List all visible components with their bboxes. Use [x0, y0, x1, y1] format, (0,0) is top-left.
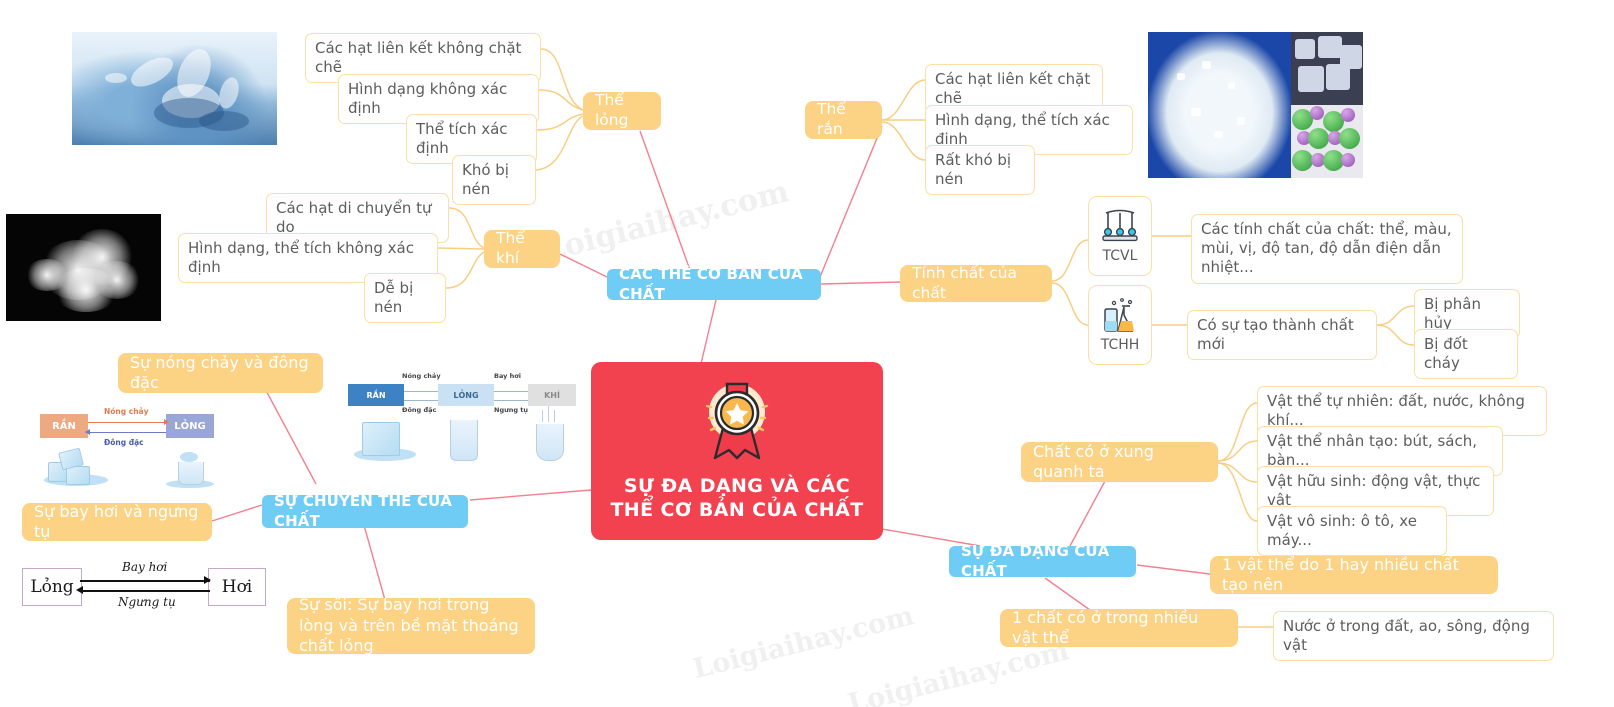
- section-diversity[interactable]: SỰ ĐA DẠNG CỦA CHẤT: [949, 546, 1136, 577]
- boiling-node[interactable]: Sự sôi: Sự bay hơi trong lòng và trên bề…: [287, 598, 535, 654]
- diagram-box-solid: RẮN: [40, 414, 88, 438]
- diagram-box-liquid: LỎNG: [166, 414, 214, 438]
- liquid-trait-4: Khó bị nén: [452, 155, 536, 205]
- section-basic-states[interactable]: CÁC THỂ CƠ BẢN CỦA CHẤT: [607, 269, 821, 300]
- diagram-label-melting: Nóng chảy: [104, 407, 148, 416]
- mindmap-canvas: Loigiaihay.com Loigiaihay.com Loigiaihay…: [0, 0, 1614, 707]
- salt-crystals-photo: [1148, 32, 1363, 178]
- gas-trait-3: Dễ bị nén: [364, 273, 446, 323]
- diagram-box-liquid2: Lỏng: [22, 568, 82, 606]
- three-state-box-liquid: LỎNG: [438, 384, 494, 406]
- watermark: Loigiaihay.com: [690, 600, 917, 685]
- section-state-change[interactable]: SỰ CHUYỂN THỂ CỦA CHẤT: [262, 495, 468, 528]
- three-state-diagram: RẮN LỎNG KHÍ Nóng chảy Bay hơi Đông đặc …: [340, 362, 580, 462]
- central-title-line1: SỰ ĐA DẠNG VÀ CÁC: [624, 474, 850, 498]
- diagram-label-condensation: Ngưng tụ: [118, 595, 176, 609]
- tchh-card[interactable]: TCHH: [1088, 285, 1152, 365]
- liquid-vapor-diagram: Lỏng Hơi Bay hơi Ngưng tụ: [18, 558, 274, 620]
- solid-trait-3: Rất khó bị nén: [925, 145, 1035, 195]
- around-us-node[interactable]: Chất có ở xung quanh ta: [1021, 442, 1218, 482]
- tcvl-label: TCVL: [1103, 248, 1138, 266]
- three-state-box-gas: KHÍ: [528, 384, 576, 406]
- diagram-box-vapor: Hơi: [208, 568, 266, 606]
- one-object-node[interactable]: 1 vật thể do 1 hay nhiều chất tạo nên: [1210, 556, 1498, 594]
- evaporation-condensation-node[interactable]: Sự bay hơi và ngưng tụ: [22, 503, 212, 541]
- tchh-label: TCHH: [1101, 337, 1140, 355]
- three-state-box-solid: RẮN: [348, 384, 404, 406]
- tchh-sub-2: Bị đốt cháy: [1414, 329, 1518, 379]
- diagram-label-freezing: Đông đặc: [104, 438, 144, 447]
- tchh-detail: Có sự tạo thành chất mới: [1187, 310, 1377, 360]
- three-state-label-evaporation: Bay hơi: [494, 372, 521, 380]
- one-substance-detail: Nước ở trong đất, ao, sông, động vật: [1273, 611, 1554, 661]
- central-title-line2: THỂ CƠ BẢN CỦA CHẤT: [610, 498, 863, 522]
- state-gas-node[interactable]: Thể khí: [484, 230, 560, 268]
- diagram-label-evaporation: Bay hơi: [122, 560, 167, 574]
- three-state-label-melting: Nóng chảy: [402, 372, 441, 380]
- water-splash-photo: [72, 32, 277, 145]
- state-liquid-node[interactable]: Thể lỏng: [583, 92, 661, 130]
- central-topic[interactable]: SỰ ĐA DẠNG VÀ CÁC THỂ CƠ BẢN CỦA CHẤT: [591, 362, 883, 540]
- watermark: Loigiaihay.com: [540, 174, 792, 269]
- one-substance-node[interactable]: 1 chất có ở trong nhiều vật thể: [1000, 609, 1238, 647]
- state-solid-node[interactable]: Thể rắn: [805, 101, 882, 139]
- abacus-icon: [1100, 208, 1140, 246]
- around-us-item-4: Vật vô sinh: ô tô, xe máy...: [1257, 506, 1447, 556]
- flask-icon: [1100, 297, 1140, 335]
- medal-star-icon: [699, 380, 775, 464]
- three-state-label-freezing: Đông đặc: [402, 406, 436, 414]
- white-smoke-photo: [6, 214, 161, 321]
- properties-node[interactable]: Tính chất của chất: [900, 265, 1052, 302]
- solid-liquid-diagram: RẮN LỎNG Nóng chảy Đông đặc: [38, 410, 238, 490]
- tcvl-card[interactable]: TCVL: [1088, 196, 1152, 276]
- tcvl-detail: Các tính chất của chất: thể, màu, mùi, v…: [1191, 214, 1463, 284]
- melting-freezing-node[interactable]: Sự nóng chảy và đông đặc: [118, 353, 323, 393]
- three-state-label-condensation: Ngưng tụ: [494, 406, 528, 414]
